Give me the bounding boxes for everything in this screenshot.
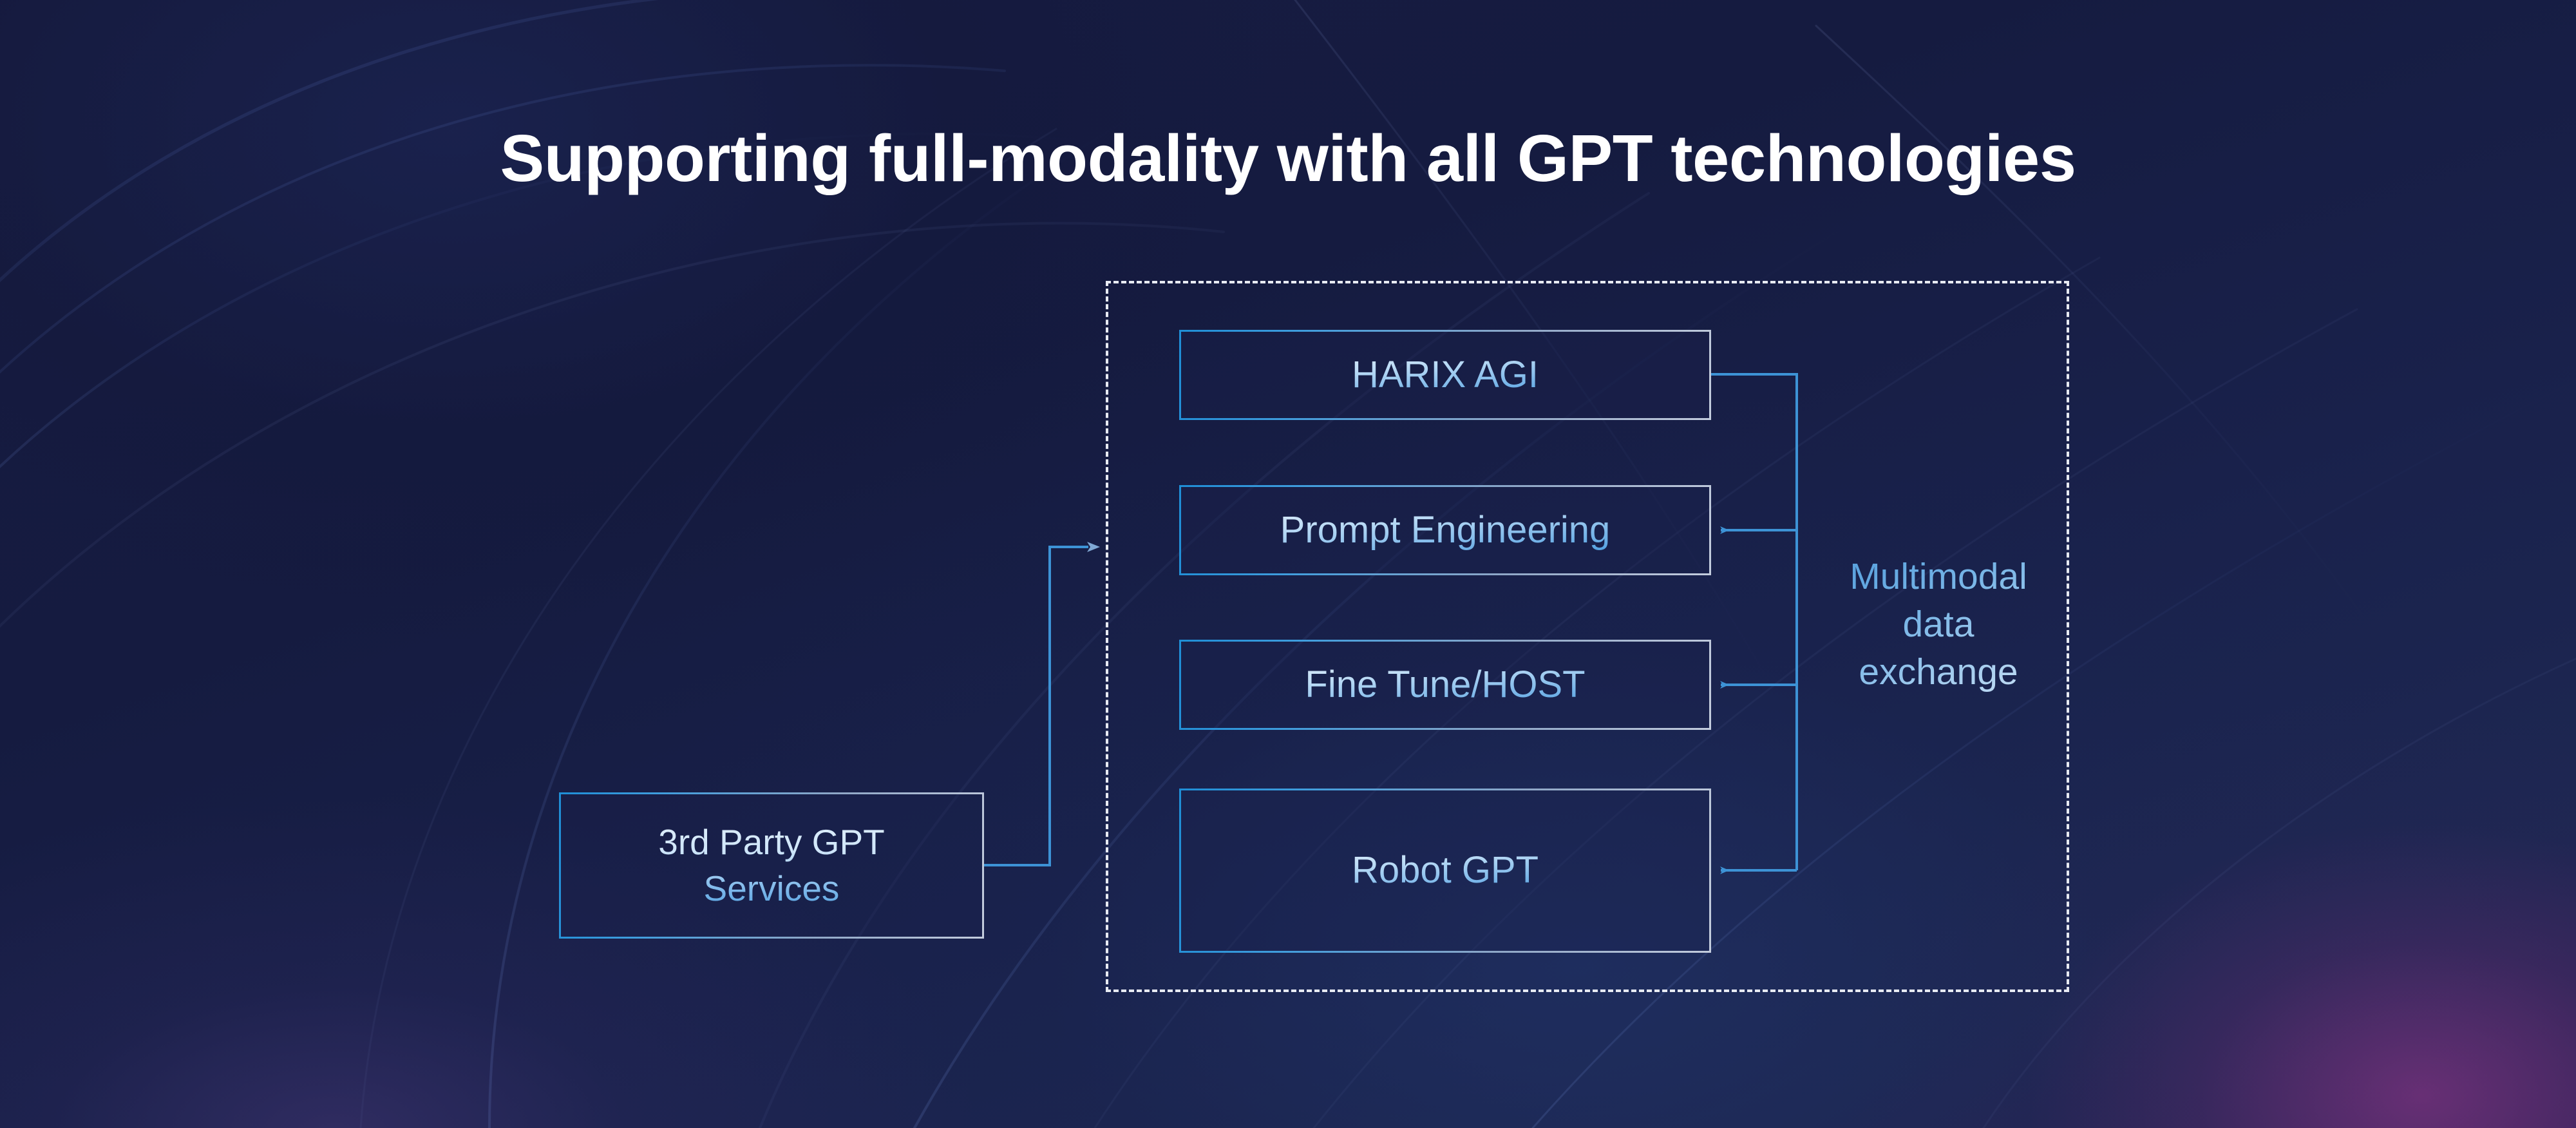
node-harix-agi[interactable]: HARIX AGI (1179, 330, 1711, 420)
node-fine-tune-host[interactable]: Fine Tune/HOST (1179, 640, 1711, 730)
node-third-party-line-2: Services (704, 868, 840, 908)
slide-canvas: Supporting full-modality with all GPT te… (0, 0, 2576, 1128)
node-robot-gpt[interactable]: Robot GPT (1179, 789, 1711, 953)
node-prompt-engineering-label: Prompt Engineering (1280, 508, 1611, 553)
node-robot-gpt-label: Robot GPT (1352, 848, 1539, 894)
node-fine-tune-host-label: Fine Tune/HOST (1305, 662, 1585, 708)
caption-line-3: exchange (1859, 651, 2018, 693)
caption-line-1: Multimodal (1850, 556, 2027, 597)
caption-line-2: data (1903, 604, 1975, 645)
connector-third-party-to-group (984, 547, 1088, 865)
node-prompt-engineering[interactable]: Prompt Engineering (1179, 485, 1711, 575)
node-third-party-line-1: 3rd Party GPT (658, 822, 884, 862)
node-third-party-gpt-services-label: 3rd Party GPT Services (658, 819, 884, 912)
node-third-party-gpt-services[interactable]: 3rd Party GPT Services (559, 792, 984, 939)
multimodal-data-exchange-caption: Multimodal data exchange (1816, 553, 2061, 696)
node-harix-agi-label: HARIX AGI (1352, 352, 1539, 398)
page-title: Supporting full-modality with all GPT te… (0, 121, 2576, 195)
